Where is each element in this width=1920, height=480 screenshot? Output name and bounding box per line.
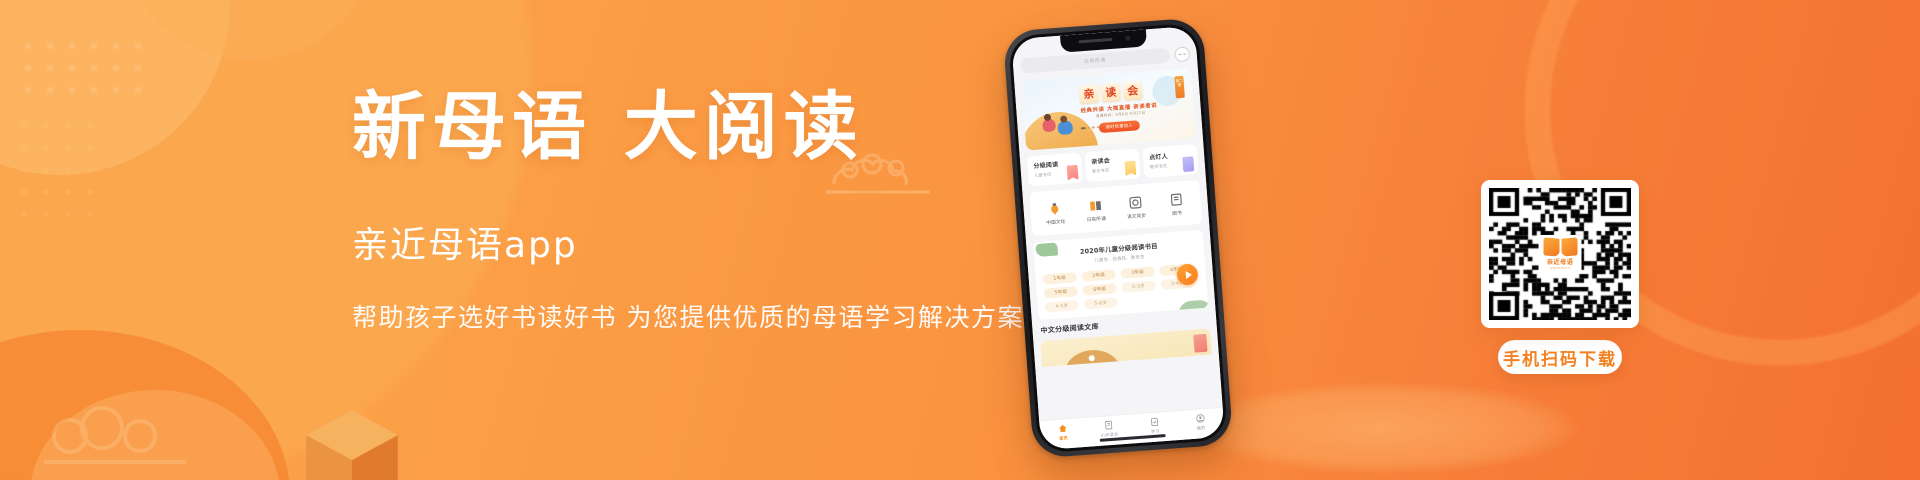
sync-circle-icon: [1127, 194, 1144, 211]
reading-icon: [1103, 419, 1115, 431]
quick-action-books[interactable]: 图书: [1155, 190, 1197, 218]
promo-char: 亲: [1079, 84, 1099, 103]
zone-cards: 分级阅读 儿童专区 亲读会 家长专区 点灯人 教师专: [1027, 144, 1199, 186]
lantern-icon: [1046, 199, 1063, 216]
quick-action-label: 图书: [1172, 210, 1182, 217]
qr-code: 亲近母语 QINJIN MUYU: [1481, 180, 1639, 328]
booklist-card: 2020年儿童分级阅读书目 儿童性、经典性、教育性 1年级 2年级 3年级 4年…: [1033, 230, 1208, 320]
decor-child-blue: [1057, 120, 1073, 135]
book-list-icon: [1167, 191, 1184, 208]
brand-name: 亲近母语: [1547, 257, 1573, 266]
bookmark-icon: [1067, 165, 1079, 181]
phone-bezel: 日有所诵 亲 读 会: [1008, 23, 1228, 454]
decor-child-red: [1042, 118, 1056, 132]
hero-copy: 新母语 大阅读 亲近母语app 帮助孩子选好书读好书 为您提供优质的母语学习解决…: [352, 88, 1012, 334]
brand-name-pinyin: QINJIN MUYU: [1550, 267, 1570, 270]
grade-chip[interactable]: 5年级: [1044, 286, 1079, 298]
search-placeholder: 日有所诵: [1084, 56, 1106, 65]
decor-ground-shadow: [1190, 382, 1580, 474]
tab-home[interactable]: 首页: [1039, 421, 1086, 443]
page-title: 新母语 大阅读: [352, 88, 1012, 168]
search-input[interactable]: 日有所诵: [1020, 48, 1171, 74]
front-camera: [1125, 36, 1130, 41]
quick-action-china-culture[interactable]: 中国文化: [1034, 199, 1076, 227]
hero-subtitle: 亲近母语app: [352, 216, 1012, 268]
grade-chip[interactable]: 2年级: [1081, 269, 1116, 281]
brand-logo: 亲近母语 QINJIN MUYU: [1539, 235, 1582, 273]
quick-action-daily-recite[interactable]: 日有所诵: [1074, 196, 1116, 224]
book-logo-icon: [1543, 238, 1577, 256]
tab-label: 我的: [1197, 425, 1206, 432]
bookmark-icon: [1124, 161, 1136, 177]
lamp-icon: [1182, 156, 1194, 172]
age-chip[interactable]: 4-5岁: [1045, 300, 1080, 312]
home-icon: [1057, 422, 1069, 434]
earpiece-speaker: [1078, 38, 1112, 43]
profile-icon: [1195, 412, 1207, 424]
tab-study[interactable]: 学习: [1131, 414, 1178, 436]
promo-flag: 第二期: [1174, 76, 1185, 99]
zone-card[interactable]: 点灯人 教师专区: [1142, 144, 1198, 178]
quick-action-chinese-sync[interactable]: 语文同步: [1115, 193, 1157, 221]
quick-actions: 中国文化 日有所诵: [1029, 180, 1202, 236]
zone-card[interactable]: 亲读会 家长专区: [1085, 148, 1141, 182]
play-video-icon[interactable]: [1176, 263, 1198, 285]
checklist-icon: [1149, 415, 1161, 427]
grade-chip[interactable]: 1年级: [1042, 272, 1077, 284]
grade-chip[interactable]: 6年级: [1082, 283, 1117, 295]
tab-label: 首页: [1059, 435, 1068, 442]
app-content: 日有所诵 亲 读 会: [1011, 26, 1222, 420]
promo-char: 读: [1101, 82, 1121, 101]
decor-leaf-top: [1035, 242, 1058, 257]
phone-mockup: 日有所诵 亲 读 会: [1003, 17, 1234, 458]
age-chip[interactable]: 0-3岁: [1121, 280, 1156, 292]
tab-profile[interactable]: 我的: [1177, 411, 1224, 433]
library-card[interactable]: [1040, 329, 1211, 367]
zone-card[interactable]: 分级阅读 儿童专区: [1027, 153, 1083, 187]
promo-banner: 新母语 大阅读 亲近母语app 帮助孩子选好书读好书 为您提供优质的母语学习解决…: [0, 0, 1920, 480]
quick-action-label: 日有所诵: [1087, 215, 1107, 222]
decor-dot-grid: [22, 40, 152, 110]
promo-title: 亲 读 会: [1079, 81, 1143, 104]
promo-cta-button[interactable]: 限时优惠加入: [1099, 120, 1141, 133]
quick-action-label: 语文同步: [1127, 212, 1147, 219]
phone-frame: 日有所诵 亲 读 会: [1003, 17, 1234, 458]
promo-char: 会: [1123, 81, 1143, 100]
grade-chip[interactable]: 3年级: [1120, 266, 1155, 278]
quick-action-label: 中国文化: [1046, 218, 1066, 225]
decor-book: [1193, 334, 1207, 353]
phone-screen: 日有所诵 亲 读 会: [1011, 26, 1225, 450]
decor-dot-grid-2: [18, 120, 128, 240]
app-promo-banner[interactable]: 亲 读 会 第二期 经典共读 大咖直播 亲读者说 直播时间：9月6日-9月27日…: [1021, 68, 1196, 150]
download-button[interactable]: 手机扫码下载: [1498, 340, 1622, 374]
hero-tagline: 帮助孩子选好书读好书 为您提供优质的母语学习解决方案: [352, 298, 1012, 334]
decor-cloud-bottom-left: [40, 402, 190, 472]
decor-cube: [300, 404, 404, 480]
booklist-chips: 1年级 2年级 3年级 4年级 5年级 6年级 0-3岁 3-4岁 4-5岁 5…: [1042, 263, 1200, 312]
download-block: 亲近母语 QINJIN MUYU 手机扫码下载: [1481, 180, 1639, 374]
open-book-icon: [1087, 197, 1104, 214]
age-chip[interactable]: 5-6岁: [1083, 297, 1118, 309]
more-dots-icon[interactable]: [1174, 46, 1190, 62]
